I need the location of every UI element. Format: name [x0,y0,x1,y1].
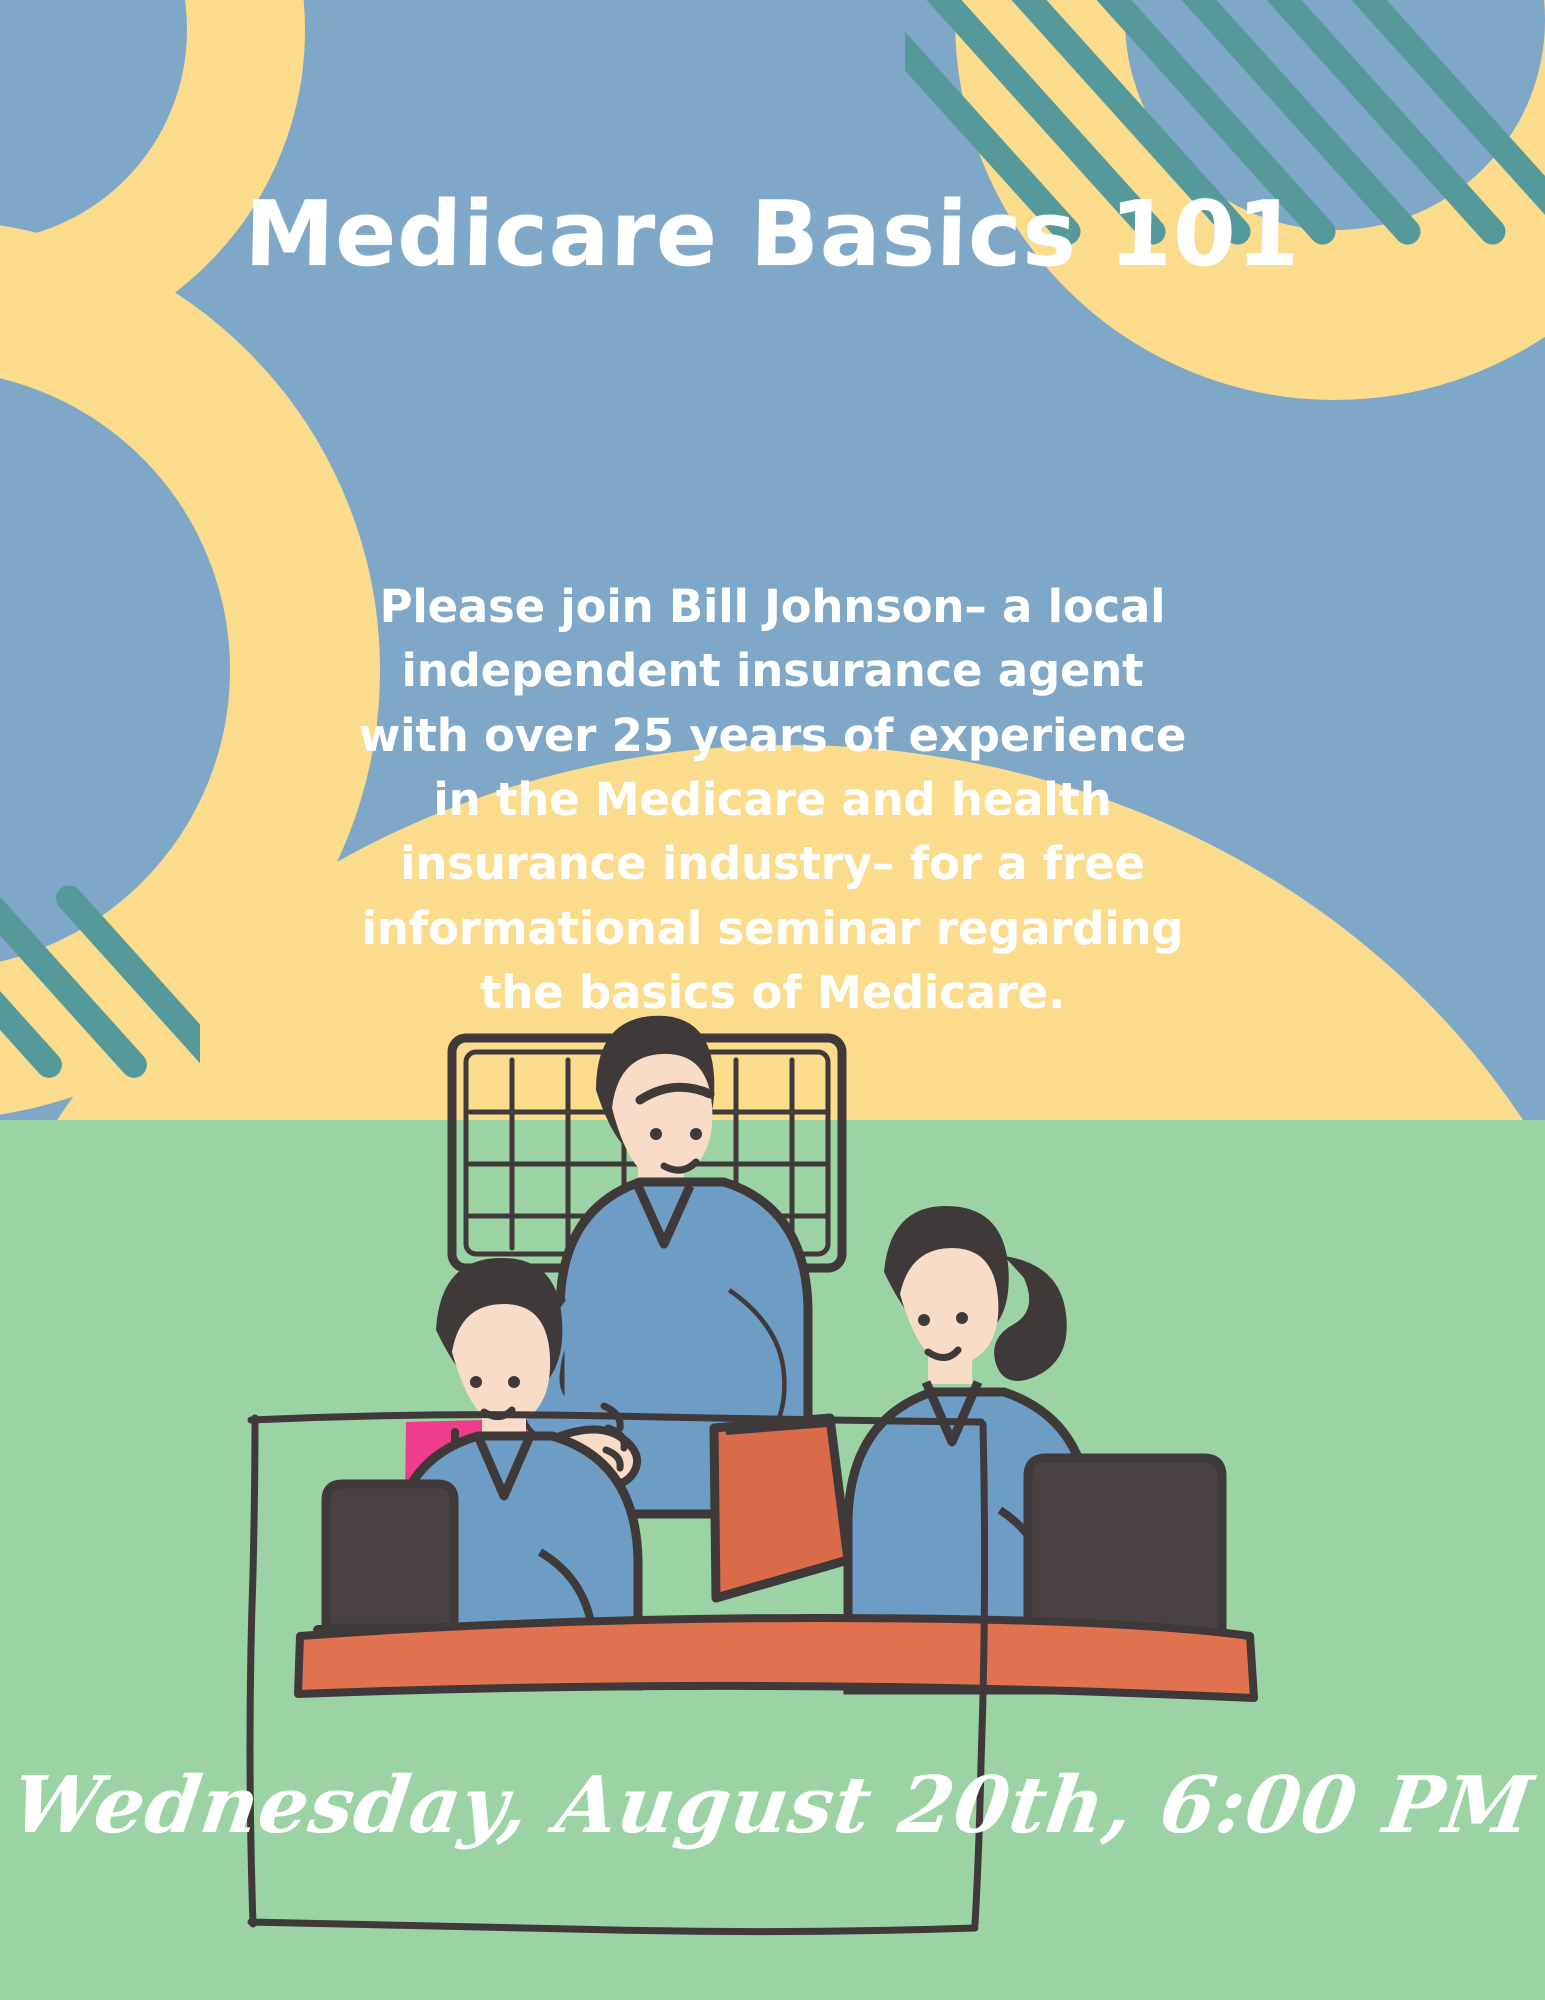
body-paragraph: Please join Bill Johnson– a local indepe… [358,575,1188,1025]
background-green-band [0,1120,1545,2000]
event-datetime: Wednesday, August 20th, 6:00 PM [0,1760,1545,1851]
page-title: Medicare Basics 101 [0,190,1545,280]
poster-canvas: Medicare Basics 101 Please join Bill Joh… [0,0,1545,2000]
